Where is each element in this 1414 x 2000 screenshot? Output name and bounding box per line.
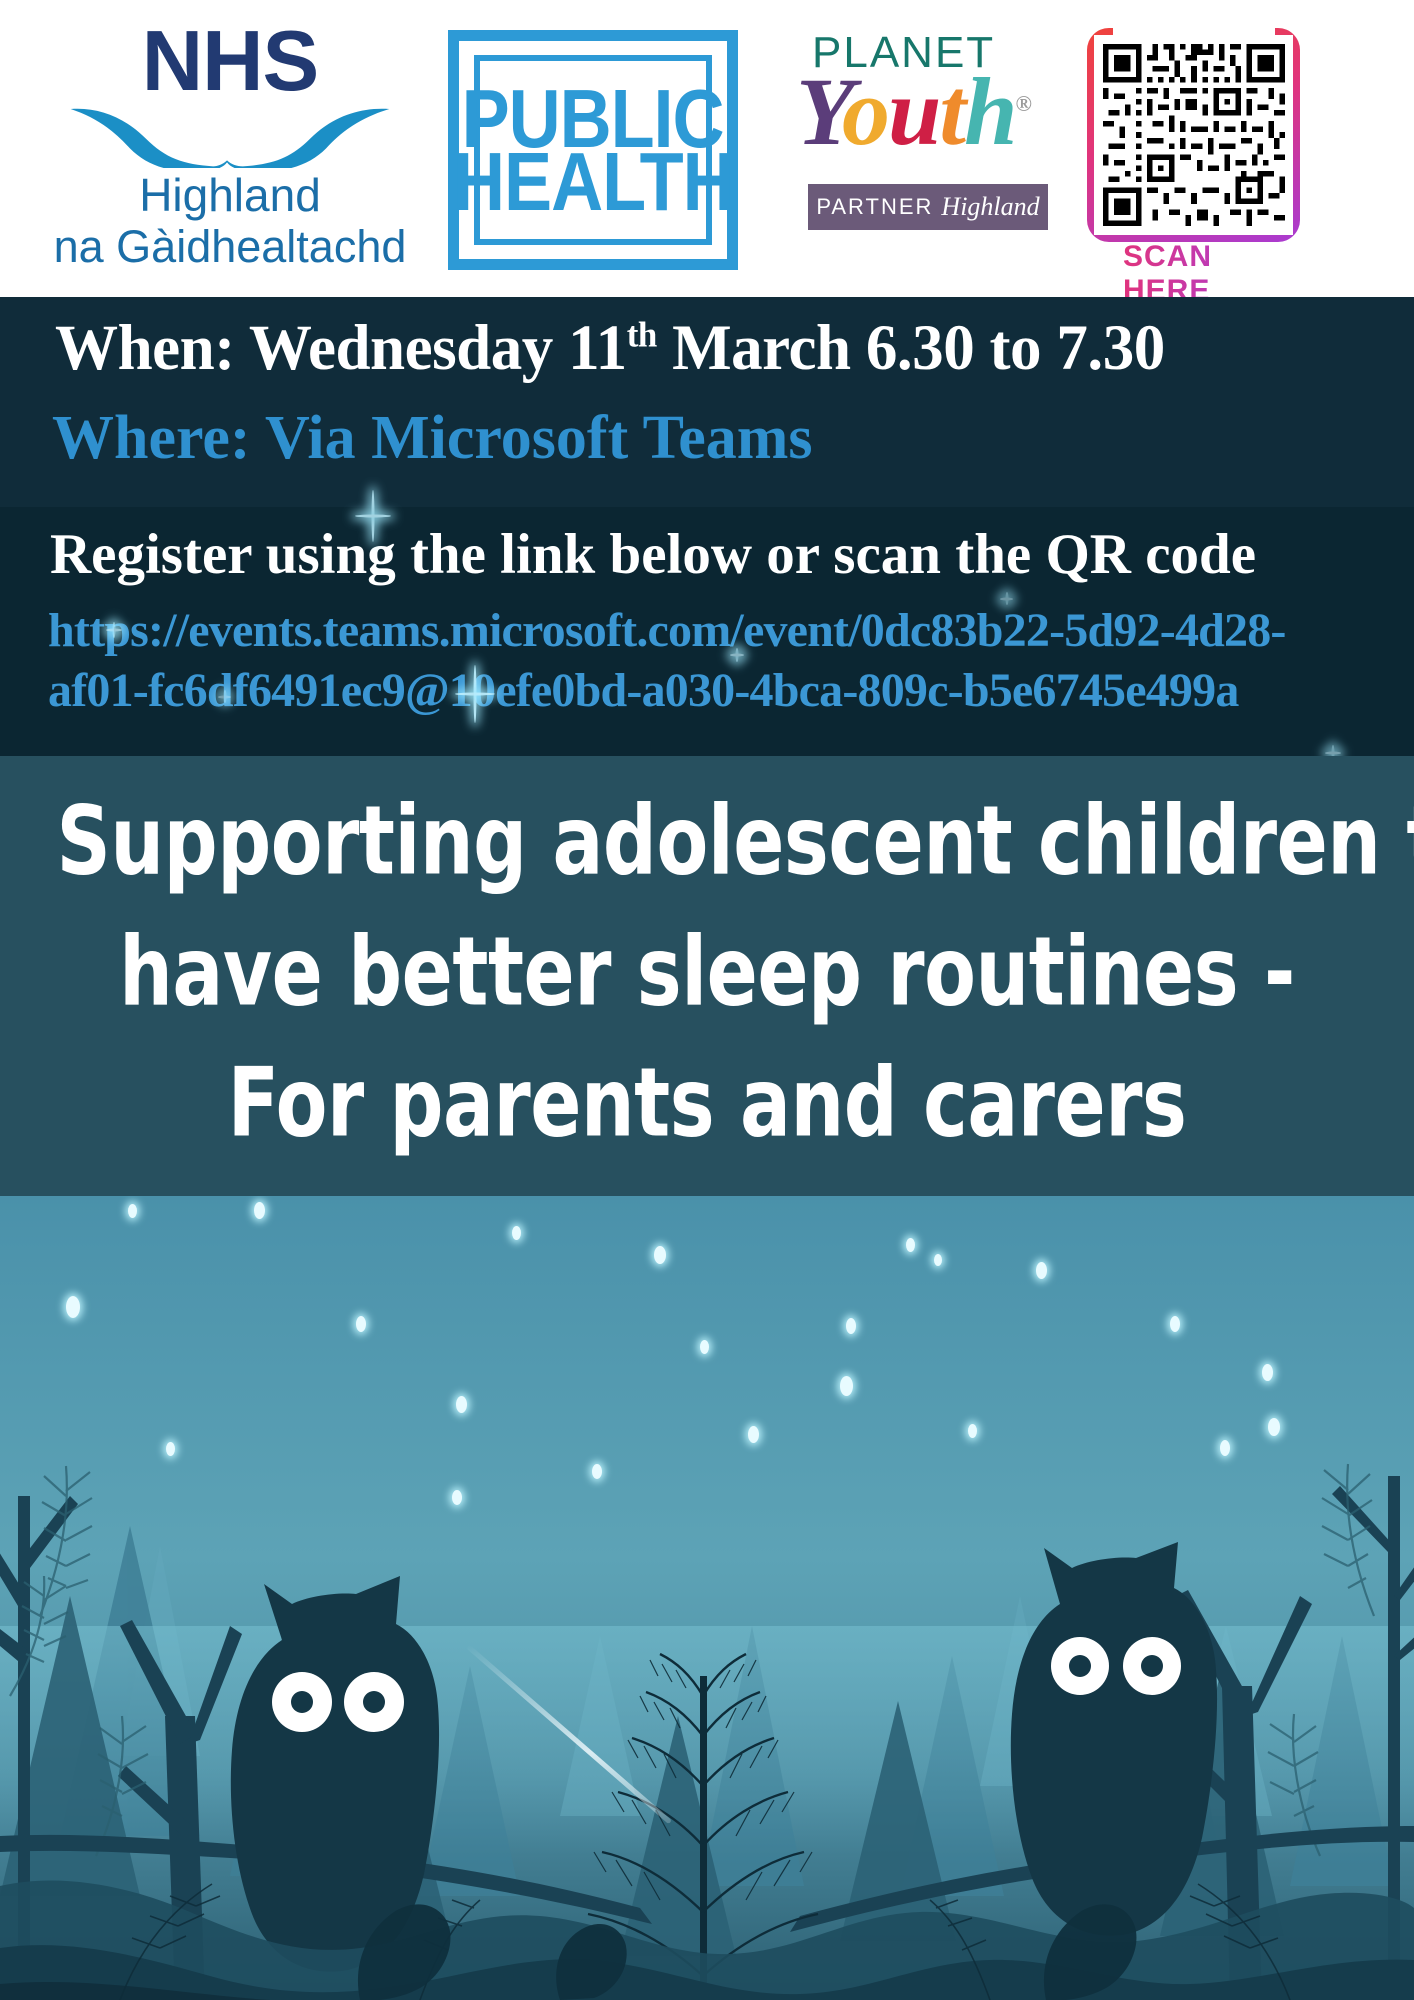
- star-icon: [452, 1490, 462, 1505]
- partner-region: Highland: [941, 192, 1039, 222]
- star-icon: [356, 1316, 366, 1332]
- star-icon: [846, 1318, 856, 1334]
- public-health-logo-inner: PUBLIC HEALTH: [474, 55, 712, 245]
- public-health-logo: PUBLIC HEALTH: [448, 30, 738, 270]
- planet-youth-partner-badge: PARTNER Highland: [808, 184, 1048, 230]
- event-where-line: Where: Via Microsoft Teams: [52, 403, 813, 474]
- nhs-sublabel-gaelic: na Gàidhealtachd: [54, 222, 407, 272]
- star-icon: [1036, 1262, 1047, 1279]
- qr-frame-top-gap: [1113, 26, 1275, 38]
- star-icon: [456, 1396, 467, 1413]
- register-instruction: Register using the link below or scan th…: [50, 522, 1256, 587]
- registration-band: Register using the link below or scan th…: [0, 507, 1414, 756]
- public-health-line2: HEALTH: [453, 144, 734, 220]
- owl-right-pupil: [1069, 1655, 1091, 1677]
- star-icon: [1262, 1364, 1273, 1381]
- star-icon: [66, 1296, 80, 1318]
- star-icon: [592, 1464, 602, 1479]
- logo-bar: NHS Highland na Gàidhealtachd PUBLIC HEA…: [0, 0, 1414, 297]
- py-letter-y: Y: [796, 58, 842, 165]
- event-when-line: When: Wednesday 11th March 6.30 to 7.30: [55, 311, 1165, 386]
- qr-gradient-frame: [1087, 28, 1300, 242]
- owl-left-pupil-2: [363, 1691, 385, 1713]
- when-ordinal: th: [627, 314, 657, 354]
- forest-scene-svg: [0, 1196, 1414, 2000]
- star-icon: [906, 1238, 915, 1252]
- event-details-band: When: Wednesday 11th March 6.30 to 7.30 …: [0, 297, 1414, 507]
- when-prefix: When: Wednesday 11: [55, 312, 627, 384]
- poster-headline: Supporting adolescent children to have b…: [57, 776, 1358, 1170]
- headline-band: Supporting adolescent children to have b…: [0, 756, 1414, 1196]
- headline-line-2: have better sleep routines -: [57, 907, 1358, 1038]
- qr-code-block[interactable]: SCAN HERE: [1087, 28, 1302, 278]
- owl-left-pupil: [291, 1691, 313, 1713]
- star-icon: [128, 1204, 137, 1218]
- star-icon: [968, 1424, 977, 1438]
- py-letter-o: o: [842, 58, 888, 165]
- star-icon: [748, 1426, 759, 1443]
- star-icon: [654, 1246, 666, 1264]
- nhs-sublabel-highland: Highland: [139, 170, 321, 222]
- headline-line-1: Supporting adolescent children to: [57, 776, 1358, 907]
- star-icon: [512, 1226, 521, 1240]
- night-forest-illustration: [0, 1196, 1414, 2000]
- star-icon: [254, 1202, 265, 1219]
- owl-right-pupil-2: [1141, 1655, 1163, 1677]
- py-letter-h: h: [964, 58, 1015, 165]
- star-icon: [700, 1340, 709, 1354]
- nhs-swoosh-icon: [65, 105, 395, 168]
- planet-youth-logo: PLANET Youth® PARTNER Highland: [790, 28, 1060, 268]
- registration-link-line1[interactable]: https://events.teams.microsoft.com/event…: [48, 603, 1286, 658]
- star-icon: [934, 1254, 942, 1266]
- star-icon: [1268, 1418, 1280, 1436]
- registration-link-line2[interactable]: af01-fc6df6491ec9@10efe0bd-a030-4bca-809…: [48, 663, 1239, 718]
- partner-word: PARTNER: [816, 194, 933, 220]
- registered-trademark-icon: ®: [1015, 91, 1029, 116]
- qr-code-image[interactable]: [1094, 35, 1293, 235]
- py-letter-t: t: [939, 58, 964, 165]
- headline-line-3: For parents and carers: [57, 1039, 1358, 1170]
- star-icon: [166, 1442, 175, 1456]
- planet-youth-youth-word: Youth®: [796, 56, 1030, 167]
- star-icon: [1220, 1440, 1230, 1456]
- star-icon: [840, 1376, 853, 1396]
- nhs-wordmark: NHS: [142, 22, 318, 103]
- when-suffix: March 6.30 to 7.30: [657, 312, 1165, 384]
- qr-code-icon: [1103, 44, 1285, 226]
- nhs-highland-logo: NHS Highland na Gàidhealtachd: [20, 22, 440, 272]
- py-letter-u: u: [888, 58, 939, 165]
- star-icon: [1170, 1316, 1180, 1332]
